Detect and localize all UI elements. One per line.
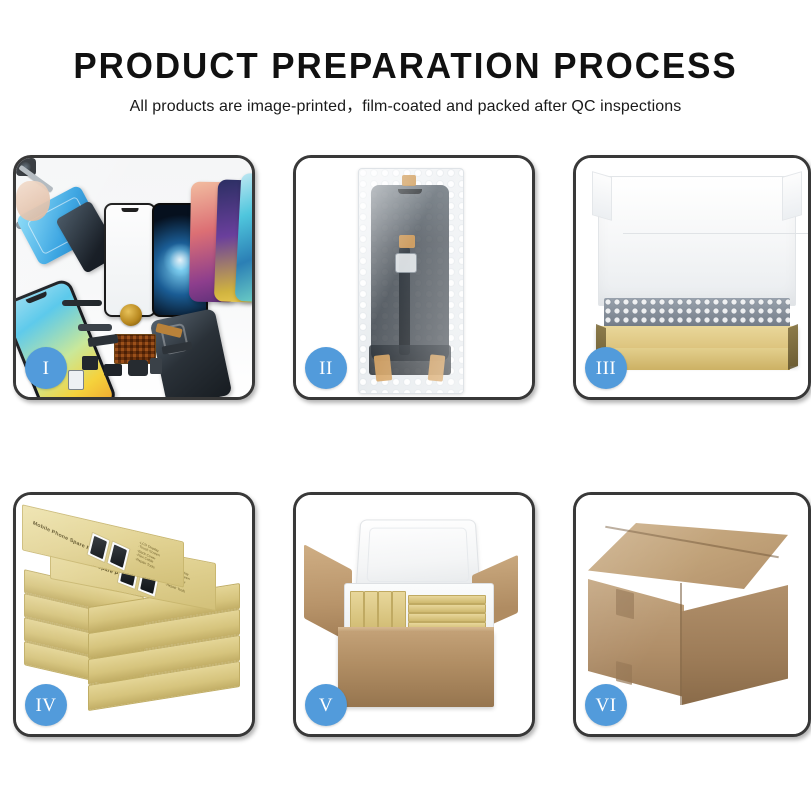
carton-top-face-icon [588, 523, 788, 589]
page-title: PRODUCT PREPARATION PROCESS [12, 0, 799, 87]
step-badge-6: VI [585, 684, 627, 726]
lid-flap-left [592, 171, 612, 221]
gold-box-row [408, 604, 486, 613]
plastic-sheen [359, 169, 463, 393]
small-part-4-icon [150, 358, 162, 374]
product-preparation-infographic: PRODUCT PREPARATION PROCESS All products… [0, 0, 811, 811]
gold-box-row [408, 595, 486, 604]
phone-screen-white-icon [104, 203, 156, 317]
step-panel-3[interactable]: III [573, 155, 811, 400]
box-spec-list-1: ·LCD Display·Touch Screen·Back Cover·Fle… [135, 540, 161, 570]
small-part-1-icon [82, 356, 98, 370]
process-steps-grid: I II [13, 155, 810, 735]
header: PRODUCT PREPARATION PROCESS All products… [0, 0, 811, 117]
step-badge-1: I [25, 347, 67, 389]
gold-tray-edge-right [788, 324, 798, 370]
small-part-2-icon [104, 364, 122, 376]
carton-left-face-icon [588, 579, 684, 697]
sim-tray-icon [68, 370, 84, 390]
step-badge-5: V [305, 684, 347, 726]
gold-tray-front [604, 348, 790, 370]
carton-right-face-icon [682, 585, 788, 705]
speaker-coil-icon [120, 304, 142, 326]
carton-tape-lower [616, 661, 632, 685]
page-subtitle: All products are image-printed，film-coat… [0, 87, 811, 117]
step-panel-2[interactable]: II [293, 155, 535, 400]
flex-cable-1-icon [78, 324, 112, 331]
white-box-lid-icon [598, 176, 796, 306]
earpiece-bar-icon [62, 300, 102, 306]
step-panel-6[interactable]: VI [573, 492, 811, 737]
step-panel-5[interactable]: V [293, 492, 535, 737]
hand-icon [16, 181, 50, 221]
step-panel-4[interactable]: Mobile Phone Spare Parts ·LCD Display·To… [13, 492, 255, 737]
foam-lid-icon [355, 520, 480, 592]
carton-corner-seam [680, 583, 682, 705]
bubble-wrap-bag-icon [358, 168, 464, 394]
step-badge-3: III [585, 347, 627, 389]
lid-crease [623, 233, 808, 234]
step-badge-4: IV [25, 684, 67, 726]
box-phone-image-d [106, 540, 130, 572]
small-part-3-icon [128, 360, 148, 376]
gold-box-row [408, 613, 486, 622]
step-panel-1[interactable]: I [13, 155, 255, 400]
lid-flap-right [782, 171, 802, 221]
carton-tape-upper [616, 589, 634, 619]
step-badge-2: II [305, 347, 347, 389]
carton-body-icon [338, 631, 494, 707]
